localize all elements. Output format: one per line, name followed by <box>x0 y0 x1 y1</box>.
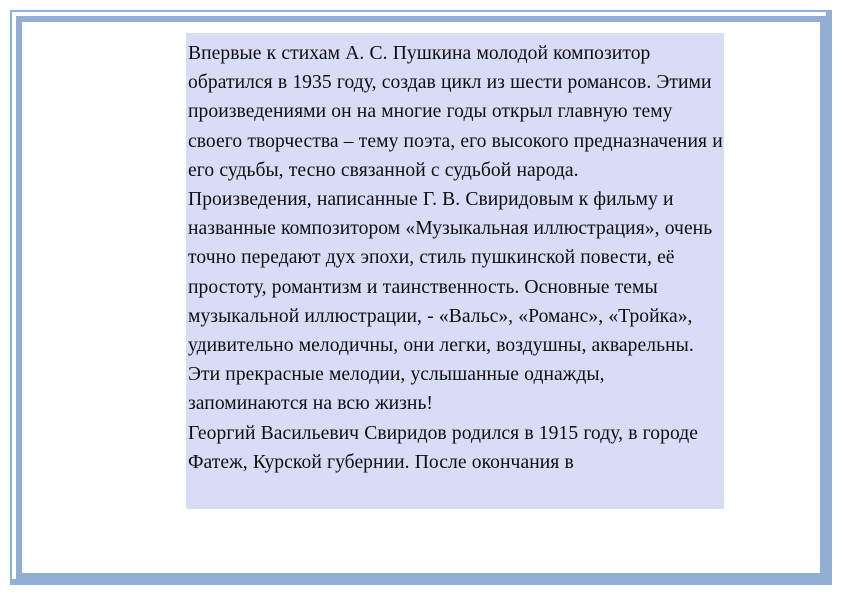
paragraph-1: Впервые к стихам А. С. Пушкина молодой к… <box>186 33 724 185</box>
text-content-block: Впервые к стихам А. С. Пушкина молодой к… <box>186 33 724 509</box>
paragraph-2: Произведения, написанные Г. В. Свиридовы… <box>186 185 724 419</box>
slide-canvas: Впервые к стихам А. С. Пушкина молодой к… <box>0 0 842 595</box>
paragraph-3: Георгий Васильевич Свиридов родился в 19… <box>186 419 724 477</box>
